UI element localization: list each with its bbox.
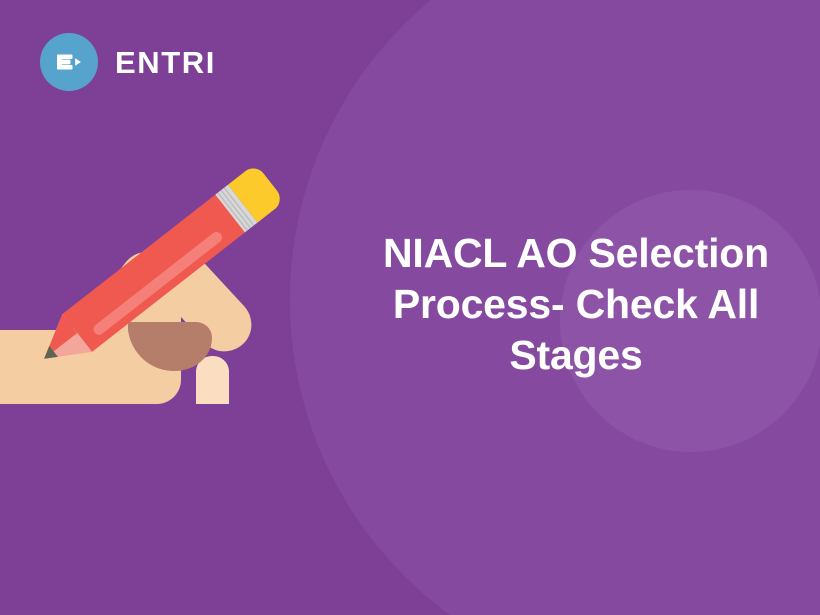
brand-logo[interactable]: ENTRI: [40, 33, 216, 91]
brand-wordmark: ENTRI: [115, 47, 216, 78]
poster-canvas: ENTRI: [0, 0, 820, 615]
hand-holding-pencil-illustration: [0, 150, 290, 420]
page-title: NIACL AO Selection Process- Check All St…: [380, 228, 772, 381]
entri-e-play-icon: [40, 33, 98, 91]
